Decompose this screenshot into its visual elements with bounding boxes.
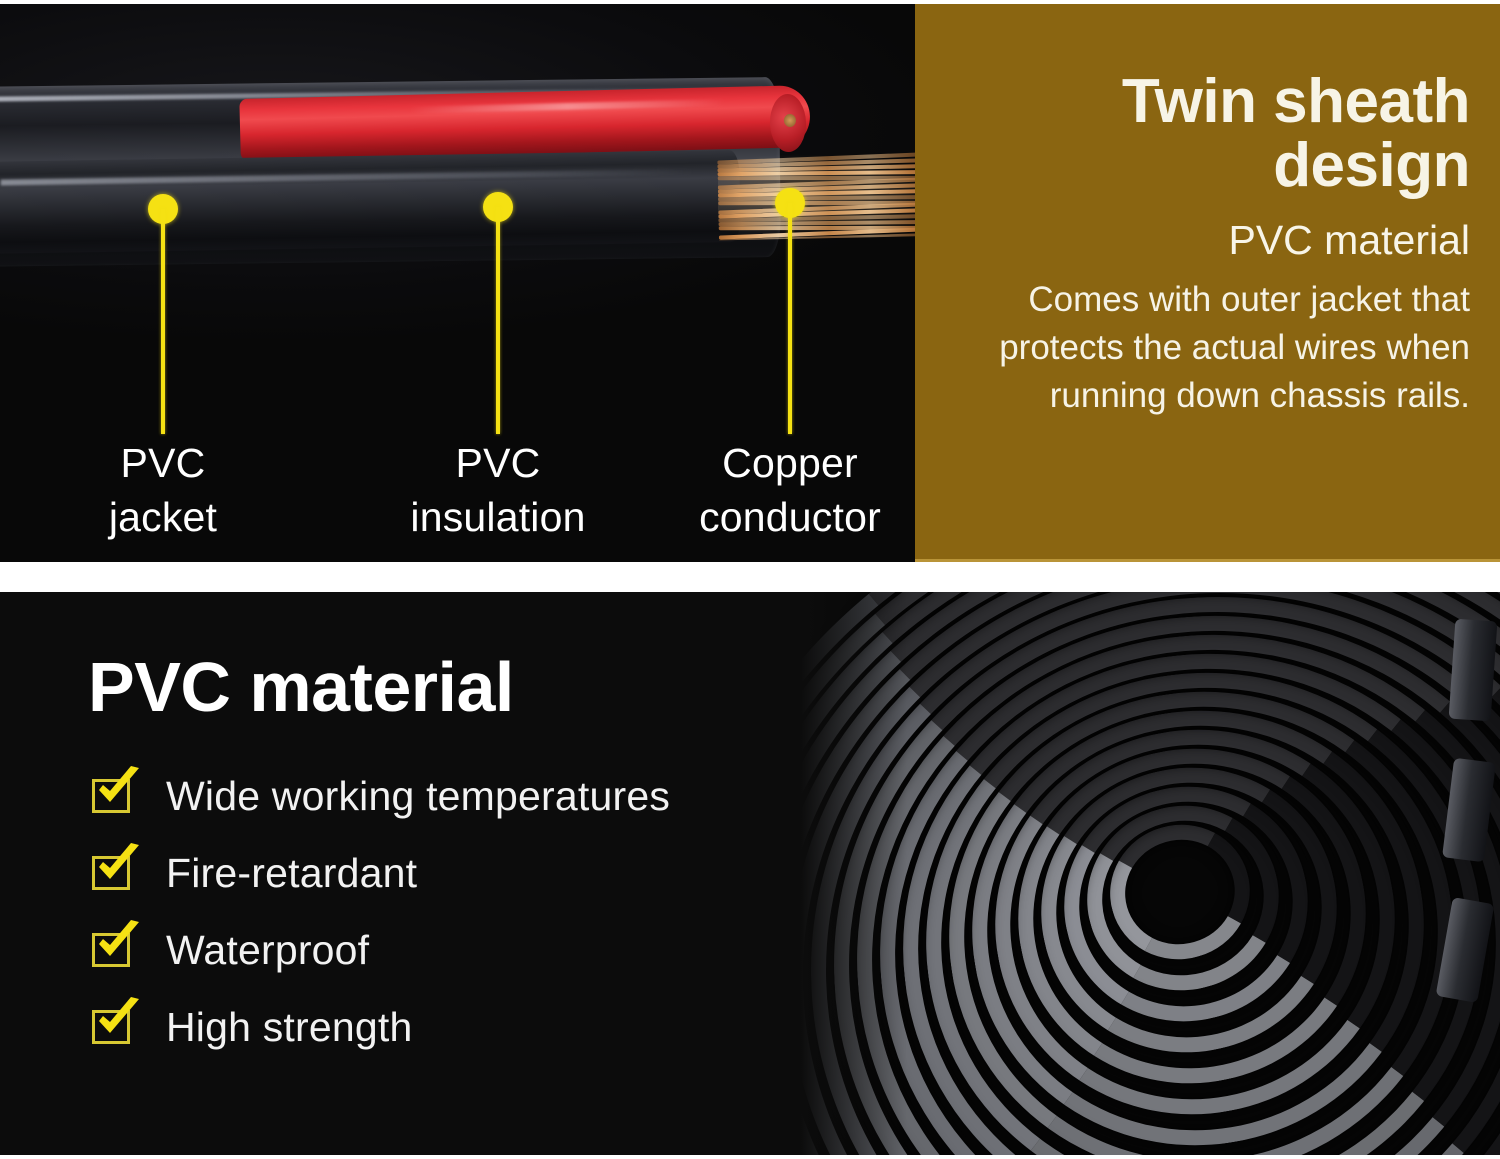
feature-item: Fire-retardant <box>92 851 670 895</box>
black-insulated-wire-graphic <box>0 150 741 254</box>
callout-label-1: PVC insulation <box>410 436 585 544</box>
checkbox-checked-icon <box>92 933 130 967</box>
bottom-border <box>0 1155 1500 1159</box>
callout-line-0 <box>161 209 165 434</box>
twin-sheath-description: Comes with outer jacket that protects th… <box>939 276 1470 420</box>
feature-item: Wide working temperatures <box>92 774 670 818</box>
callout-label-0: PVC jacket <box>109 436 217 544</box>
pvc-material-subtitle: PVC material <box>939 218 1470 263</box>
checkbox-checked-icon <box>92 779 130 813</box>
twin-sheath-title: Twin sheath design <box>939 70 1470 198</box>
bottom-panel: PVC material Wide working temperaturesFi… <box>0 592 1500 1155</box>
cable-coil-photo <box>740 592 1500 1155</box>
check-icon <box>93 920 141 964</box>
feature-label: Fire-retardant <box>166 850 417 897</box>
feature-item: High strength <box>92 1005 670 1049</box>
callout-label-2: Copper conductor <box>699 436 881 544</box>
feature-label: Waterproof <box>166 927 369 974</box>
product-infographic: PVC jacketPVC insulationCopper conductor… <box>0 0 1500 1159</box>
callout-line-1 <box>496 207 500 434</box>
coil-ring <box>740 592 1500 1155</box>
feature-label: High strength <box>166 1004 412 1051</box>
feature-item: Waterproof <box>92 928 670 972</box>
check-icon <box>93 766 141 810</box>
copper-conductor-graphic <box>717 152 915 241</box>
section-divider <box>0 562 1500 592</box>
coil-cut-end <box>1449 619 1498 722</box>
checkbox-checked-icon <box>92 856 130 890</box>
twin-sheath-info-panel: Twin sheath design PVC material Comes wi… <box>915 4 1500 562</box>
pvc-material-heading: PVC material <box>88 647 514 727</box>
check-icon <box>93 997 141 1041</box>
feature-label: Wide working temperatures <box>166 773 670 820</box>
callout-line-2 <box>788 203 792 434</box>
feature-list: Wide working temperaturesFire-retardantW… <box>92 774 670 1082</box>
top-panel: PVC jacketPVC insulationCopper conductor… <box>0 4 1500 562</box>
checkbox-checked-icon <box>92 1010 130 1044</box>
check-icon <box>93 843 141 887</box>
